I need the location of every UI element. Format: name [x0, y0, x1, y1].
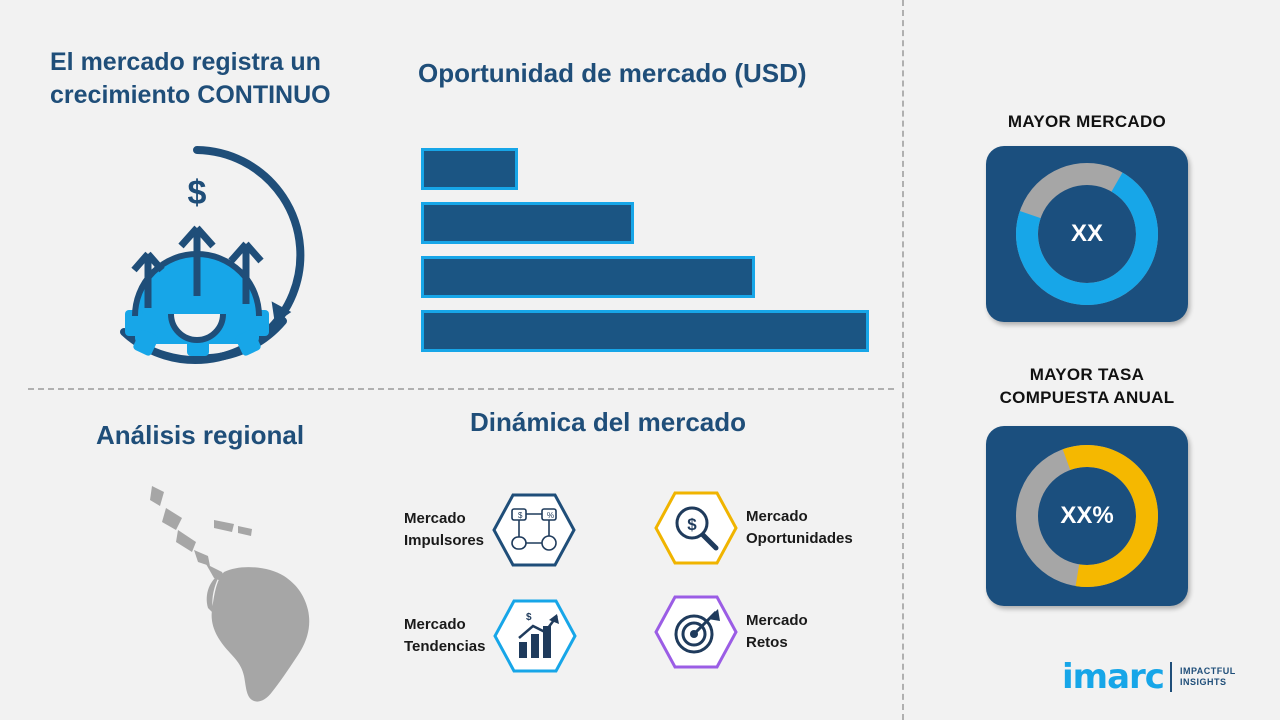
vertical-divider [902, 0, 904, 720]
horizontal-divider [28, 388, 894, 390]
largest-market-card: XX [986, 146, 1188, 322]
opportunity-title: Oportunidad de mercado (USD) [418, 58, 807, 89]
growth-title: El mercado registra un crecimiento CONTI… [50, 46, 390, 112]
bar-4 [421, 310, 869, 352]
growth-title-line1: El mercado registra un [50, 48, 321, 76]
growth-title-line2-plain: crecimiento [50, 81, 197, 109]
growth-title-line2-accent: CONTINUO [197, 81, 330, 109]
target-arrow-icon [654, 594, 738, 670]
dynamics-item-opportunities-label: Mercado Oportunidades [746, 506, 853, 550]
svg-text:$: $ [518, 511, 523, 520]
svg-text:$: $ [687, 515, 697, 534]
dollar-symbol: $ [188, 174, 207, 212]
regional-title: Análisis regional [96, 420, 304, 451]
bar-1 [421, 148, 518, 190]
largest-market-value: XX [986, 220, 1188, 248]
imarc-tagline-line1: IMPACTFUL [1180, 666, 1236, 677]
dynamics-title: Dinámica del mercado [470, 407, 746, 438]
magnifier-dollar-icon: $ [654, 490, 738, 566]
bar-chart-arrow-icon: $ [493, 598, 577, 674]
imarc-logo: imarc IMPACTFUL INSIGHTS [1062, 655, 1252, 699]
growth-gear-arrows-icon: $ [78, 136, 316, 368]
imarc-logo-tagline: IMPACTFUL INSIGHTS [1180, 666, 1236, 689]
highest-cagr-title: MAYOR TASA COMPUESTA ANUAL [957, 364, 1217, 410]
svg-text:$: $ [526, 612, 532, 623]
logo-divider [1170, 662, 1172, 692]
highest-cagr-title-line1: MAYOR TASA [1030, 365, 1144, 384]
dynamics-item-drivers[interactable]: Mercado Impulsores $ % [404, 492, 576, 568]
highest-cagr-value: XX% [986, 502, 1188, 530]
largest-market-title: MAYOR MERCADO [957, 111, 1217, 134]
bar-2 [421, 202, 634, 244]
dynamics-item-challenges-label: Mercado Retos [746, 610, 808, 654]
highest-cagr-title-line2: COMPUESTA ANUAL [1000, 388, 1175, 407]
imarc-logo-word: imarc [1062, 657, 1164, 697]
dynamics-item-trends[interactable]: Mercado Tendencias $ [404, 598, 577, 674]
highest-cagr-card: XX% [986, 426, 1188, 606]
opportunity-bar-chart [421, 148, 869, 364]
dynamics-item-challenges[interactable]: Mercado Retos [654, 594, 808, 670]
dynamics-item-drivers-label: Mercado Impulsores [404, 508, 484, 552]
drivers-diagram-icon: $ % [492, 492, 576, 568]
bar-3 [421, 256, 755, 298]
imarc-tagline-line2: INSIGHTS [1180, 677, 1236, 688]
latin-america-map [128, 468, 368, 708]
dynamics-item-opportunities[interactable]: $ Mercado Oportunidades [654, 490, 853, 566]
dynamics-item-trends-label: Mercado Tendencias [404, 614, 485, 658]
svg-text:%: % [547, 511, 554, 520]
